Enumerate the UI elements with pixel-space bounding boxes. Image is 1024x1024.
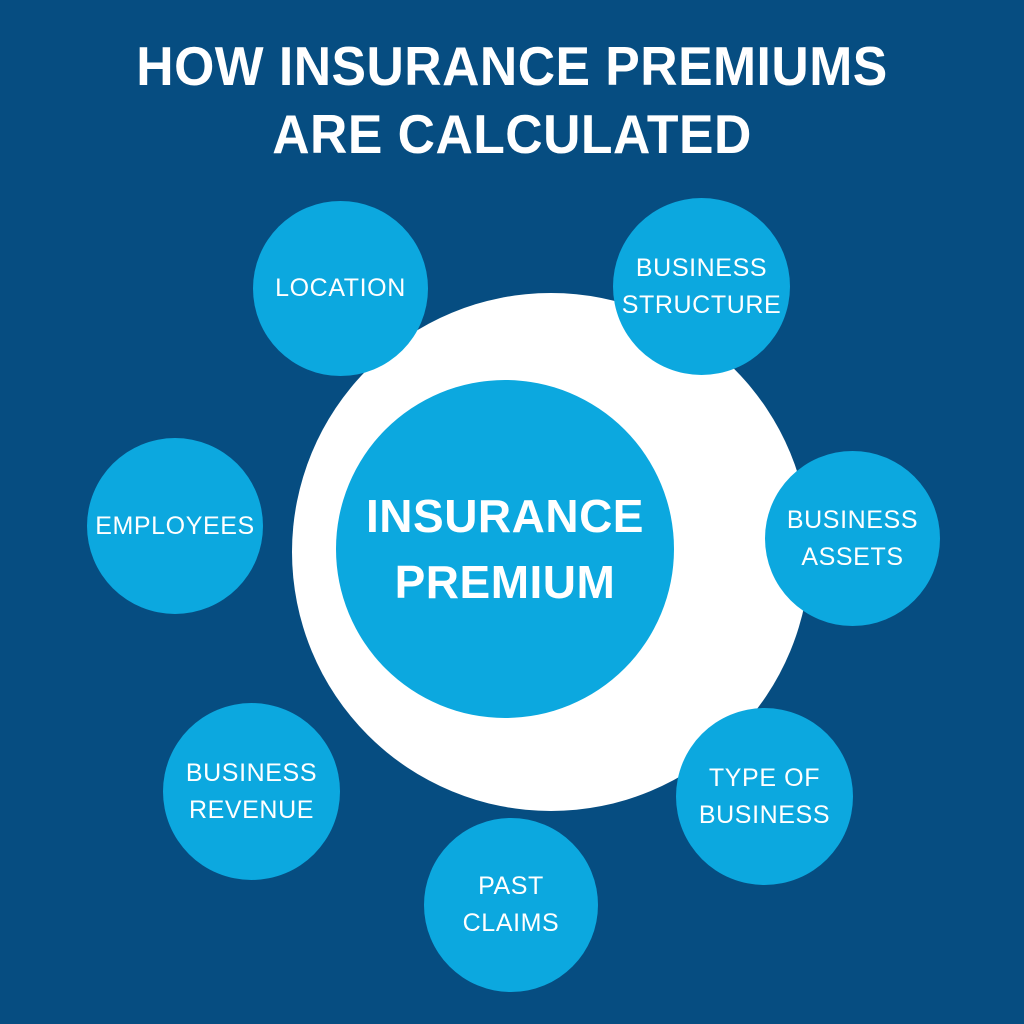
factor-label-business-assets: BUSINESS ASSETS [777,502,928,576]
factor-circle-type-of-business: TYPE OF BUSINESS [676,708,853,885]
factor-circle-business-assets: BUSINESS ASSETS [765,451,940,626]
factor-circle-employees: EMPLOYEES [87,438,263,614]
hub-circle-insurance-premium: INSURANCE PREMIUM [336,380,674,718]
factor-circle-business-revenue: BUSINESS REVENUE [163,703,340,880]
factor-label-location: LOCATION [265,270,416,307]
factor-circle-location: LOCATION [253,201,428,376]
factor-label-employees: EMPLOYEES [85,508,265,545]
infographic-canvas: HOW INSURANCE PREMIUMS ARE CALCULATED IN… [0,0,1024,1024]
factor-label-business-structure: BUSINESS STRUCTURE [612,250,792,324]
hub-label: INSURANCE PREMIUM [366,483,644,615]
page-title: HOW INSURANCE PREMIUMS ARE CALCULATED [31,32,994,168]
factor-circle-business-structure: BUSINESS STRUCTURE [613,198,790,375]
factor-label-past-claims: PAST CLAIMS [453,868,570,942]
factor-circle-past-claims: PAST CLAIMS [424,818,598,992]
factor-label-type-of-business: TYPE OF BUSINESS [689,760,840,834]
factor-label-business-revenue: BUSINESS REVENUE [176,755,327,829]
